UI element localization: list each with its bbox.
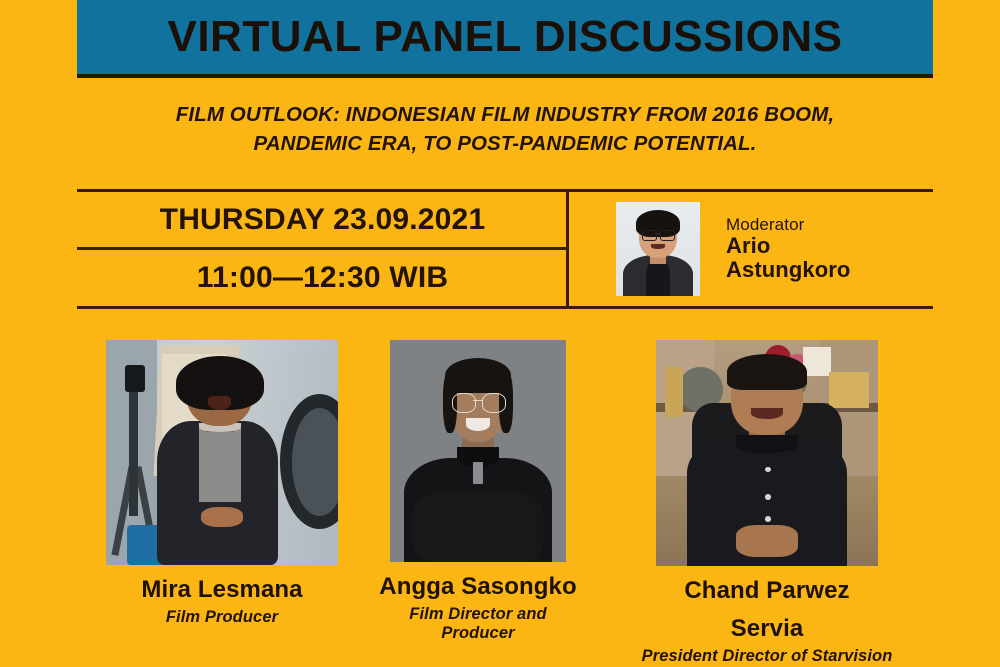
moderator-block: Moderator Ario Astungkoro	[570, 192, 933, 306]
panelist-card: Mira Lesmana Film Producer	[92, 340, 352, 627]
panelist-photo-1	[106, 340, 338, 565]
moderator-role-label: Moderator	[726, 216, 850, 234]
divider-bottom	[77, 306, 933, 309]
moderator-avatar	[616, 202, 700, 296]
panelist-name-line-1: Chand Parwez	[637, 578, 897, 604]
panelist2-folded-arms	[413, 491, 543, 562]
panelist2-pendant	[473, 462, 484, 484]
panelist3-smile	[751, 408, 782, 419]
panelist-name-line-2: Servia	[637, 616, 897, 642]
moderator-photo-glasses-left	[642, 230, 657, 240]
subtitle-line-1: FILM OUTLOOK: INDONESIAN FILM INDUSTRY F…	[77, 100, 933, 129]
poster-canvas: VIRTUAL PANEL DISCUSSIONS FILM OUTLOOK: …	[0, 0, 1000, 667]
panelist-card: Angga Sasongko Film Director and Produce…	[373, 340, 583, 643]
panelist-name: Mira Lesmana	[92, 577, 352, 603]
panelist1-shirt	[199, 426, 241, 503]
panelist3-gift-box	[829, 372, 869, 408]
panelist3-collar	[736, 435, 798, 453]
panelist-photo-3	[656, 340, 878, 566]
panelist-card: Chand Parwez Servia President Director o…	[637, 340, 897, 666]
banner-underline	[77, 74, 933, 78]
subtitle: FILM OUTLOOK: INDONESIAN FILM INDUSTRY F…	[77, 100, 933, 158]
moderator-text: Moderator Ario Astungkoro	[726, 216, 850, 282]
moderator-photo-smile	[651, 244, 664, 249]
panelist2-glasses-bridge	[473, 400, 484, 401]
panelist2-smile	[466, 418, 491, 431]
panelist1-camera	[125, 365, 146, 392]
panelist1-tripod-column	[129, 381, 138, 516]
moderator-photo-glasses-bridge	[655, 233, 661, 235]
moderator-name-line-2: Astungkoro	[726, 258, 850, 282]
event-time: 11:00—12:30 WIB	[77, 250, 568, 306]
panelist3-decor-vase	[665, 367, 683, 417]
panelist-photo-2	[390, 340, 566, 562]
moderator-photo-shirt	[646, 260, 670, 296]
header-banner: VIRTUAL PANEL DISCUSSIONS	[77, 0, 933, 74]
panelist-role: Film Producer	[92, 608, 352, 627]
panelist-role: President Director of Starvision	[637, 647, 897, 666]
moderator-name-line-1: Ario	[726, 234, 850, 258]
panelist3-button-2	[765, 494, 772, 500]
panelist3-hair	[727, 354, 807, 390]
panelist1-hands	[201, 507, 243, 527]
panelist1-smile	[208, 396, 231, 410]
page-title: VIRTUAL PANEL DISCUSSIONS	[167, 15, 842, 59]
panelist-role: Film Director and Producer	[373, 605, 583, 643]
panelist-name: Angga Sasongko	[373, 574, 583, 600]
panelist2-glasses-left	[452, 393, 477, 413]
panelist3-hands	[736, 525, 798, 557]
subtitle-line-2: PANDEMIC ERA, TO POST-PANDEMIC POTENTIAL…	[77, 129, 933, 158]
panelists-row: Mira Lesmana Film Producer Angga	[77, 340, 933, 660]
panelist1-fan-inner	[292, 408, 338, 516]
moderator-photo-glasses-right	[660, 230, 675, 240]
panelist2-glasses-right	[482, 393, 507, 413]
event-date: THURSDAY 23.09.2021	[77, 192, 568, 247]
